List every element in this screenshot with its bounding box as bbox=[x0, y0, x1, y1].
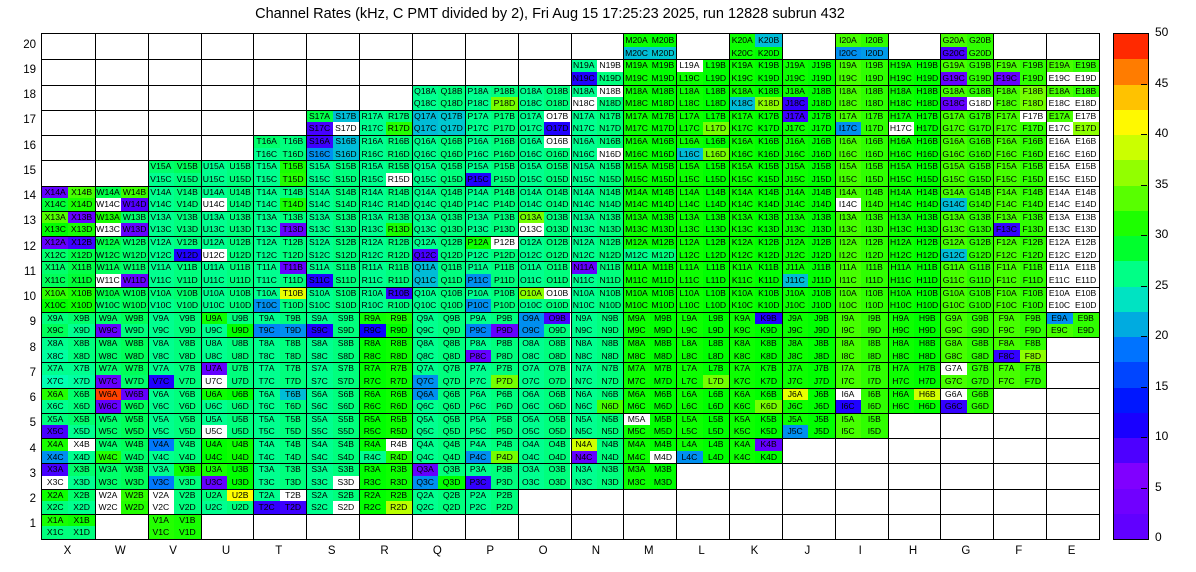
heatmap-cell: T16C bbox=[253, 148, 279, 161]
heatmap-cell: I18B bbox=[861, 85, 887, 98]
heatmap-cell: X7A bbox=[42, 362, 68, 375]
heatmap-cell: K11D bbox=[755, 274, 781, 287]
heatmap-cell: T8A bbox=[253, 337, 279, 350]
heatmap-cell: V15D bbox=[174, 173, 200, 186]
heatmap-cell: Q10B bbox=[438, 287, 464, 300]
heatmap-cell: I19D bbox=[861, 72, 887, 85]
heatmap-cell: F9A bbox=[993, 312, 1019, 325]
heatmap-cell: M11A bbox=[623, 261, 649, 274]
heatmap-cell: Q11A bbox=[412, 261, 438, 274]
heatmap-cell: Q12D bbox=[438, 249, 464, 262]
heatmap-cell: J17C bbox=[782, 122, 808, 135]
heatmap-cell: Q3C bbox=[412, 476, 438, 489]
heatmap-cell: K16B bbox=[755, 135, 781, 148]
heatmap-cell: M14A bbox=[623, 186, 649, 199]
heatmap-cell: I13B bbox=[861, 211, 887, 224]
heatmap-cell: F17D bbox=[1020, 122, 1046, 135]
heatmap-cell: K6C bbox=[729, 400, 755, 413]
heatmap-cell: S2B bbox=[333, 489, 359, 502]
heatmap-cell: M11C bbox=[623, 274, 649, 287]
heatmap-cell: S9B bbox=[333, 312, 359, 325]
heatmap-cell: G20A bbox=[940, 34, 966, 47]
grid-hline bbox=[42, 489, 1099, 490]
heatmap-cell: P13B bbox=[491, 211, 517, 224]
y-axis-tick: 16 bbox=[6, 140, 36, 152]
heatmap-cell: E17C bbox=[1046, 122, 1072, 135]
heatmap-cell: I18C bbox=[835, 97, 861, 110]
heatmap-cell: V9B bbox=[174, 312, 200, 325]
heatmap-cell: K16D bbox=[755, 148, 781, 161]
heatmap-cell: O6A bbox=[518, 388, 544, 401]
heatmap-cell: R4D bbox=[386, 451, 412, 464]
heatmap-cell: S11C bbox=[306, 274, 332, 287]
heatmap-cell: F11D bbox=[1020, 274, 1046, 287]
heatmap-cell: U2C bbox=[201, 501, 227, 514]
heatmap-cell: L5A bbox=[676, 413, 702, 426]
heatmap-cell: X3D bbox=[68, 476, 94, 489]
heatmap-cell: P9D bbox=[491, 324, 517, 337]
heatmap-cell: L16D bbox=[703, 148, 729, 161]
heatmap-cell: I14A bbox=[835, 186, 861, 199]
colorbar-segment bbox=[1114, 362, 1148, 387]
heatmap-cell: U12C bbox=[201, 249, 227, 262]
heatmap-cell: Q5D bbox=[438, 425, 464, 438]
heatmap-cell: V4D bbox=[174, 451, 200, 464]
heatmap-cell: Q11D bbox=[438, 274, 464, 287]
heatmap-cell: H13B bbox=[914, 211, 940, 224]
heatmap-cell: O11D bbox=[544, 274, 570, 287]
heatmap-cell: V6A bbox=[148, 388, 174, 401]
x-axis-tick: X bbox=[41, 545, 94, 557]
heatmap-cell: M6C bbox=[623, 400, 649, 413]
grid-hline bbox=[42, 236, 1099, 237]
heatmap-cell: H13C bbox=[888, 223, 914, 236]
heatmap-cell: H8C bbox=[888, 350, 914, 363]
heatmap-cell: E10C bbox=[1046, 299, 1072, 312]
heatmap-cell: R13C bbox=[359, 223, 385, 236]
heatmap-cell: H10B bbox=[914, 287, 940, 300]
heatmap-cell: K12D bbox=[755, 249, 781, 262]
heatmap-cell: T8C bbox=[253, 350, 279, 363]
heatmap-cell: O10C bbox=[518, 299, 544, 312]
heatmap-cell: S17B bbox=[333, 110, 359, 123]
heatmap-cell: G18D bbox=[967, 97, 993, 110]
heatmap-cell: Q6A bbox=[412, 388, 438, 401]
heatmap-cell: P10B bbox=[491, 287, 517, 300]
heatmap-cell: U9D bbox=[227, 324, 253, 337]
heatmap-cell: U5B bbox=[227, 413, 253, 426]
heatmap-cell: H17C bbox=[888, 122, 914, 135]
heatmap-cell: Q5B bbox=[438, 413, 464, 426]
heatmap-cell: M10A bbox=[623, 287, 649, 300]
heatmap-cell: F13A bbox=[993, 211, 1019, 224]
heatmap-cell: L18D bbox=[703, 97, 729, 110]
heatmap-cell: W13B bbox=[121, 211, 147, 224]
heatmap-cell: G15A bbox=[940, 160, 966, 173]
heatmap-cell: M12A bbox=[623, 236, 649, 249]
heatmap-cell: P5A bbox=[465, 413, 491, 426]
heatmap-cell: F8A bbox=[993, 337, 1019, 350]
heatmap-cell: J5D bbox=[808, 425, 834, 438]
colorbar-tick-label: 20 bbox=[1155, 328, 1168, 342]
heatmap-cell: L6A bbox=[676, 388, 702, 401]
heatmap-cell: N4D bbox=[597, 451, 623, 464]
heatmap-cell: G9D bbox=[967, 324, 993, 337]
heatmap-cell: M12D bbox=[650, 249, 676, 262]
y-axis-tick: 18 bbox=[6, 89, 36, 101]
heatmap-cell: E11D bbox=[1073, 274, 1099, 287]
heatmap-cell: W3B bbox=[121, 463, 147, 476]
heatmap-cell: K12A bbox=[729, 236, 755, 249]
heatmap-cell: O10A bbox=[518, 287, 544, 300]
heatmap-cell: X3B bbox=[68, 463, 94, 476]
heatmap-cell: I20C bbox=[835, 47, 861, 60]
heatmap-cell: J13A bbox=[782, 211, 808, 224]
heatmap-cell: S10D bbox=[333, 299, 359, 312]
heatmap-cell: T2B bbox=[280, 489, 306, 502]
heatmap-cell: N6A bbox=[571, 388, 597, 401]
heatmap-cell: X8D bbox=[68, 350, 94, 363]
heatmap-cell: M18B bbox=[650, 85, 676, 98]
heatmap-cell: O13A bbox=[518, 211, 544, 224]
heatmap-cell: K12B bbox=[755, 236, 781, 249]
heatmap-cell: G12A bbox=[940, 236, 966, 249]
heatmap-cell: E9D bbox=[1073, 324, 1099, 337]
heatmap-cell: T13C bbox=[253, 223, 279, 236]
heatmap-cell: R6C bbox=[359, 400, 385, 413]
heatmap-cell: H15B bbox=[914, 160, 940, 173]
heatmap-cell: W2A bbox=[95, 489, 121, 502]
heatmap-cell: K9D bbox=[755, 324, 781, 337]
heatmap-cell: R17D bbox=[386, 122, 412, 135]
heatmap-cell: Q15C bbox=[412, 173, 438, 186]
heatmap-cell: F19B bbox=[1020, 59, 1046, 72]
heatmap-cell: J15B bbox=[808, 160, 834, 173]
heatmap-cell: L10D bbox=[703, 299, 729, 312]
heatmap-cell: V14B bbox=[174, 186, 200, 199]
heatmap-cell: X9A bbox=[42, 312, 68, 325]
heatmap-cell: E13D bbox=[1073, 223, 1099, 236]
heatmap-cell: O8B bbox=[544, 337, 570, 350]
heatmap-cell: K19C bbox=[729, 72, 755, 85]
heatmap-cell: P14D bbox=[491, 198, 517, 211]
heatmap-cell: R7D bbox=[386, 375, 412, 388]
heatmap-cell: Q4C bbox=[412, 451, 438, 464]
heatmap-cell: T11B bbox=[280, 261, 306, 274]
heatmap-cell: L8D bbox=[703, 350, 729, 363]
heatmap-cell: V3D bbox=[174, 476, 200, 489]
colorbar-segment bbox=[1114, 388, 1148, 413]
heatmap-cell: I6C bbox=[835, 400, 861, 413]
heatmap-cell: L14A bbox=[676, 186, 702, 199]
heatmap-cell: K11A bbox=[729, 261, 755, 274]
heatmap-cell: N9C bbox=[571, 324, 597, 337]
heatmap-cell: R6B bbox=[386, 388, 412, 401]
heatmap-cell: U11B bbox=[227, 261, 253, 274]
heatmap-cell: R8A bbox=[359, 337, 385, 350]
heatmap-cell: V14C bbox=[148, 198, 174, 211]
heatmap-cell: X2A bbox=[42, 489, 68, 502]
heatmap-cell: T4D bbox=[280, 451, 306, 464]
heatmap-cell: S5C bbox=[306, 425, 332, 438]
heatmap-cell: K15A bbox=[729, 160, 755, 173]
heatmap-cell: U5A bbox=[201, 413, 227, 426]
heatmap-cell: K18D bbox=[755, 97, 781, 110]
heatmap-cell: U8B bbox=[227, 337, 253, 350]
heatmap-cell: G8D bbox=[967, 350, 993, 363]
heatmap-cell: I15D bbox=[861, 173, 887, 186]
heatmap-cell: X2B bbox=[68, 489, 94, 502]
heatmap-cell: O10B bbox=[544, 287, 570, 300]
heatmap-cell: S4C bbox=[306, 451, 332, 464]
x-axis-tick: O bbox=[517, 545, 570, 557]
heatmap-cell: K14C bbox=[729, 198, 755, 211]
heatmap-cell: G11A bbox=[940, 261, 966, 274]
heatmap-cell: H7C bbox=[888, 375, 914, 388]
heatmap-cell: P14B bbox=[491, 186, 517, 199]
heatmap-cell: O14B bbox=[544, 186, 570, 199]
heatmap-cell: W5C bbox=[95, 425, 121, 438]
heatmap-cell: I19C bbox=[835, 72, 861, 85]
heatmap-cell: X11D bbox=[68, 274, 94, 287]
heatmap-cell: V2A bbox=[148, 489, 174, 502]
heatmap-cell: G19B bbox=[967, 59, 993, 72]
heatmap-cell: L14C bbox=[676, 198, 702, 211]
heatmap-cell: T12C bbox=[253, 249, 279, 262]
heatmap-cell: Q9A bbox=[412, 312, 438, 325]
heatmap-cell: I19A bbox=[835, 59, 861, 72]
heatmap-cell: U11A bbox=[201, 261, 227, 274]
heatmap-cell: Q14B bbox=[438, 186, 464, 199]
heatmap-cell: M17C bbox=[623, 122, 649, 135]
heatmap-cell: V5D bbox=[174, 425, 200, 438]
heatmap-cell: I16A bbox=[835, 135, 861, 148]
heatmap-cell: K11C bbox=[729, 274, 755, 287]
heatmap-cell: F12C bbox=[993, 249, 1019, 262]
heatmap-cell: O14A bbox=[518, 186, 544, 199]
heatmap-cell: K19B bbox=[755, 59, 781, 72]
heatmap-cell: V7B bbox=[174, 362, 200, 375]
heatmap-cell: P9B bbox=[491, 312, 517, 325]
heatmap-cell: K16C bbox=[729, 148, 755, 161]
heatmap-cell: R7B bbox=[386, 362, 412, 375]
heatmap-cell: M8A bbox=[623, 337, 649, 350]
heatmap-cell: G14C bbox=[940, 198, 966, 211]
heatmap-cell: H9C bbox=[888, 324, 914, 337]
colorbar-tick-mark bbox=[1141, 437, 1147, 438]
heatmap-cell: P4B bbox=[491, 438, 517, 451]
heatmap-cell: S8A bbox=[306, 337, 332, 350]
heatmap-cell: M5C bbox=[623, 425, 649, 438]
heatmap-cell: X10C bbox=[42, 299, 68, 312]
heatmap-cell: O3B bbox=[544, 463, 570, 476]
heatmap-cell: R6D bbox=[386, 400, 412, 413]
x-axis: XWVUTSRQPONMLKJIHGFE bbox=[41, 545, 1100, 563]
heatmap-cell: U11C bbox=[201, 274, 227, 287]
heatmap-cell: H10C bbox=[888, 299, 914, 312]
heatmap-cell: U15A bbox=[201, 160, 227, 173]
heatmap-cell: E13A bbox=[1046, 211, 1072, 224]
heatmap-cell: J5B bbox=[808, 413, 834, 426]
heatmap-cell: O15B bbox=[544, 160, 570, 173]
heatmap-cell: N12C bbox=[571, 249, 597, 262]
colorbar-tick-label: 30 bbox=[1155, 227, 1168, 241]
heatmap-cell: V14D bbox=[174, 198, 200, 211]
heatmap-cell: V1B bbox=[174, 514, 200, 527]
heatmap-cell: E14B bbox=[1073, 186, 1099, 199]
heatmap-cell: N4B bbox=[597, 438, 623, 451]
colorbar-segment bbox=[1114, 160, 1148, 185]
heatmap-cell: O12A bbox=[518, 236, 544, 249]
heatmap-cell: K7B bbox=[755, 362, 781, 375]
heatmap-cell: Q13C bbox=[412, 223, 438, 236]
heatmap-cell: P11A bbox=[465, 261, 491, 274]
heatmap-cell: R12A bbox=[359, 236, 385, 249]
heatmap-cell: T7C bbox=[253, 375, 279, 388]
heatmap-cell: L4C bbox=[676, 451, 702, 464]
heatmap-cell: T2D bbox=[280, 501, 306, 514]
heatmap-cell: O10D bbox=[544, 299, 570, 312]
heatmap-cell: O11C bbox=[518, 274, 544, 287]
heatmap-cell: T10D bbox=[280, 299, 306, 312]
heatmap-cell: E11B bbox=[1073, 261, 1099, 274]
heatmap-cell: F12B bbox=[1020, 236, 1046, 249]
heatmap-cell: K5D bbox=[755, 425, 781, 438]
heatmap-cell: K8A bbox=[729, 337, 755, 350]
heatmap-cell: W13A bbox=[95, 211, 121, 224]
heatmap-cell: S2D bbox=[333, 501, 359, 514]
heatmap-cell: H9A bbox=[888, 312, 914, 325]
heatmap-cell: Q14A bbox=[412, 186, 438, 199]
heatmap-cell: G8C bbox=[940, 350, 966, 363]
heatmap-cell: Q17C bbox=[412, 122, 438, 135]
heatmap-cell: K17D bbox=[755, 122, 781, 135]
heatmap-cell: N6B bbox=[597, 388, 623, 401]
heatmap-cell: Q17A bbox=[412, 110, 438, 123]
heatmap-cell: V11C bbox=[148, 274, 174, 287]
heatmap-cell: Q8C bbox=[412, 350, 438, 363]
heatmap-cell: U10B bbox=[227, 287, 253, 300]
heatmap-cell: L14D bbox=[703, 198, 729, 211]
heatmap-cell: R12B bbox=[386, 236, 412, 249]
heatmap-cell: R8D bbox=[386, 350, 412, 363]
heatmap-cell: R13B bbox=[386, 211, 412, 224]
heatmap-cell: V9C bbox=[148, 324, 174, 337]
heatmap-cell: F12A bbox=[993, 236, 1019, 249]
heatmap-cell: K19D bbox=[755, 72, 781, 85]
heatmap-cell: H15A bbox=[888, 160, 914, 173]
x-axis-tick: I bbox=[834, 545, 887, 557]
heatmap-cell: Q12C bbox=[412, 249, 438, 262]
heatmap-cell: L8C bbox=[676, 350, 702, 363]
heatmap-cell: H8D bbox=[914, 350, 940, 363]
heatmap-cell: Q16D bbox=[438, 148, 464, 161]
heatmap-cell: S14C bbox=[306, 198, 332, 211]
heatmap-cell: G10B bbox=[967, 287, 993, 300]
heatmap-cell: Q15D bbox=[438, 173, 464, 186]
heatmap-cell: M19D bbox=[650, 72, 676, 85]
heatmap-cell: X14C bbox=[42, 198, 68, 211]
y-axis-tick: 19 bbox=[6, 64, 36, 76]
heatmap-cell: V15A bbox=[148, 160, 174, 173]
heatmap-cell: E14D bbox=[1073, 198, 1099, 211]
grid-hline bbox=[42, 110, 1099, 111]
heatmap-cell: U7A bbox=[201, 362, 227, 375]
heatmap-cell: W9B bbox=[121, 312, 147, 325]
y-axis-tick: 4 bbox=[6, 443, 36, 455]
heatmap-cell: K5B bbox=[755, 413, 781, 426]
heatmap-cell: O14D bbox=[544, 198, 570, 211]
heatmap-cell: R14A bbox=[359, 186, 385, 199]
heatmap-cell: W10B bbox=[121, 287, 147, 300]
heatmap-cell: E13B bbox=[1073, 211, 1099, 224]
heatmap-cell: F10C bbox=[993, 299, 1019, 312]
heatmap-cell: O16B bbox=[544, 135, 570, 148]
colorbar-segment bbox=[1114, 287, 1148, 312]
heatmap-cell: S12C bbox=[306, 249, 332, 262]
heatmap-cell: T9B bbox=[280, 312, 306, 325]
heatmap-cell: R2A bbox=[359, 489, 385, 502]
heatmap-cell: J9C bbox=[782, 324, 808, 337]
heatmap-cell: I8A bbox=[835, 337, 861, 350]
heatmap-cell: J8D bbox=[808, 350, 834, 363]
heatmap-cell: N17A bbox=[571, 110, 597, 123]
heatmap-cell: S3B bbox=[333, 463, 359, 476]
heatmap-cell: K20C bbox=[729, 47, 755, 60]
heatmap-cell: H6B bbox=[914, 388, 940, 401]
heatmap-cell: P12A bbox=[465, 236, 491, 249]
heatmap-cell: G20B bbox=[967, 34, 993, 47]
heatmap-cell: P6D bbox=[491, 400, 517, 413]
heatmap-cell: N15D bbox=[597, 173, 623, 186]
heatmap-cell: S17C bbox=[306, 122, 332, 135]
heatmap-cell: E9C bbox=[1046, 324, 1072, 337]
heatmap-cell: P16C bbox=[465, 148, 491, 161]
heatmap-cell: L12C bbox=[676, 249, 702, 262]
heatmap-cell: J9A bbox=[782, 312, 808, 325]
heatmap-cell: T3D bbox=[280, 476, 306, 489]
heatmap-cell: S10C bbox=[306, 299, 332, 312]
heatmap-cell: O18C bbox=[518, 97, 544, 110]
heatmap-cell: V14A bbox=[148, 186, 174, 199]
heatmap-cell: G15C bbox=[940, 173, 966, 186]
heatmap-cell: J6B bbox=[808, 388, 834, 401]
heatmap-cell: M9A bbox=[623, 312, 649, 325]
heatmap-cell: I17A bbox=[835, 110, 861, 123]
heatmap-cell: F7C bbox=[993, 375, 1019, 388]
heatmap-cell: E18D bbox=[1073, 97, 1099, 110]
heatmap-cell: I11C bbox=[835, 274, 861, 287]
heatmap-cell: U9C bbox=[201, 324, 227, 337]
heatmap-cell: W7D bbox=[121, 375, 147, 388]
heatmap-cell: F14A bbox=[993, 186, 1019, 199]
heatmap-cell: I11D bbox=[861, 274, 887, 287]
heatmap-cell: K13B bbox=[755, 211, 781, 224]
x-axis-tick: M bbox=[622, 545, 675, 557]
heatmap-cell: E10A bbox=[1046, 287, 1072, 300]
heatmap-cell: S7A bbox=[306, 362, 332, 375]
heatmap-cell: H12D bbox=[914, 249, 940, 262]
heatmap-cell: K4A bbox=[729, 438, 755, 451]
heatmap-cell: G12D bbox=[967, 249, 993, 262]
heatmap-cell: U3B bbox=[227, 463, 253, 476]
heatmap-cell: N18C bbox=[571, 97, 597, 110]
heatmap-cell: G18A bbox=[940, 85, 966, 98]
heatmap-cell: U14B bbox=[227, 186, 253, 199]
heatmap-cell: U13B bbox=[227, 211, 253, 224]
y-axis-tick: 20 bbox=[6, 39, 36, 51]
heatmap-cell: W3C bbox=[95, 476, 121, 489]
